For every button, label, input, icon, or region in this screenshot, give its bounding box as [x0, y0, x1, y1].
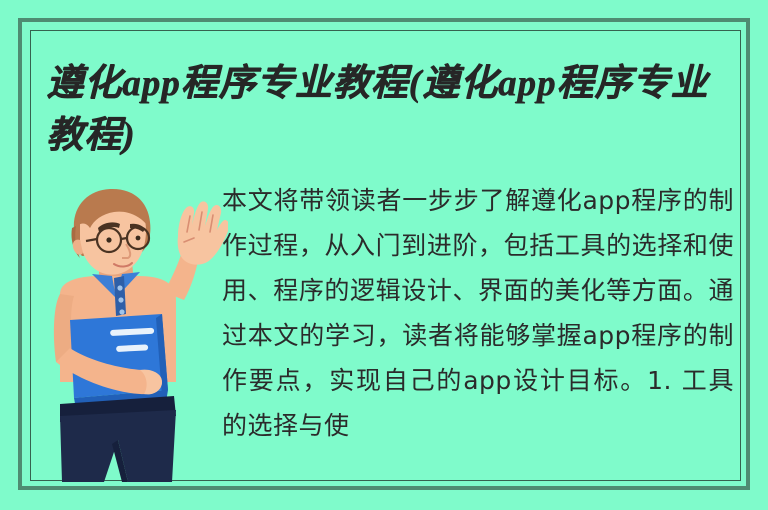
eye-right — [136, 236, 141, 241]
page-title: 遵化app程序专业教程(遵化app程序专业教程) — [46, 58, 736, 162]
shirt-button-1 — [117, 285, 122, 290]
man-waving-illustration-svg — [52, 182, 228, 484]
eye-left — [106, 237, 111, 242]
illustration-man-waving — [52, 182, 228, 484]
shirt-button-2 — [118, 297, 123, 302]
poster-canvas: 遵化app程序专业教程(遵化app程序专业教程) — [0, 0, 768, 510]
waving-hand — [178, 201, 228, 264]
placket — [114, 276, 126, 316]
body-paragraph: 本文将带领读者一步步了解遵化app程序的制作过程，从入门到进阶，包括工具的选择和… — [222, 178, 734, 448]
shirt-button-3 — [119, 309, 124, 314]
